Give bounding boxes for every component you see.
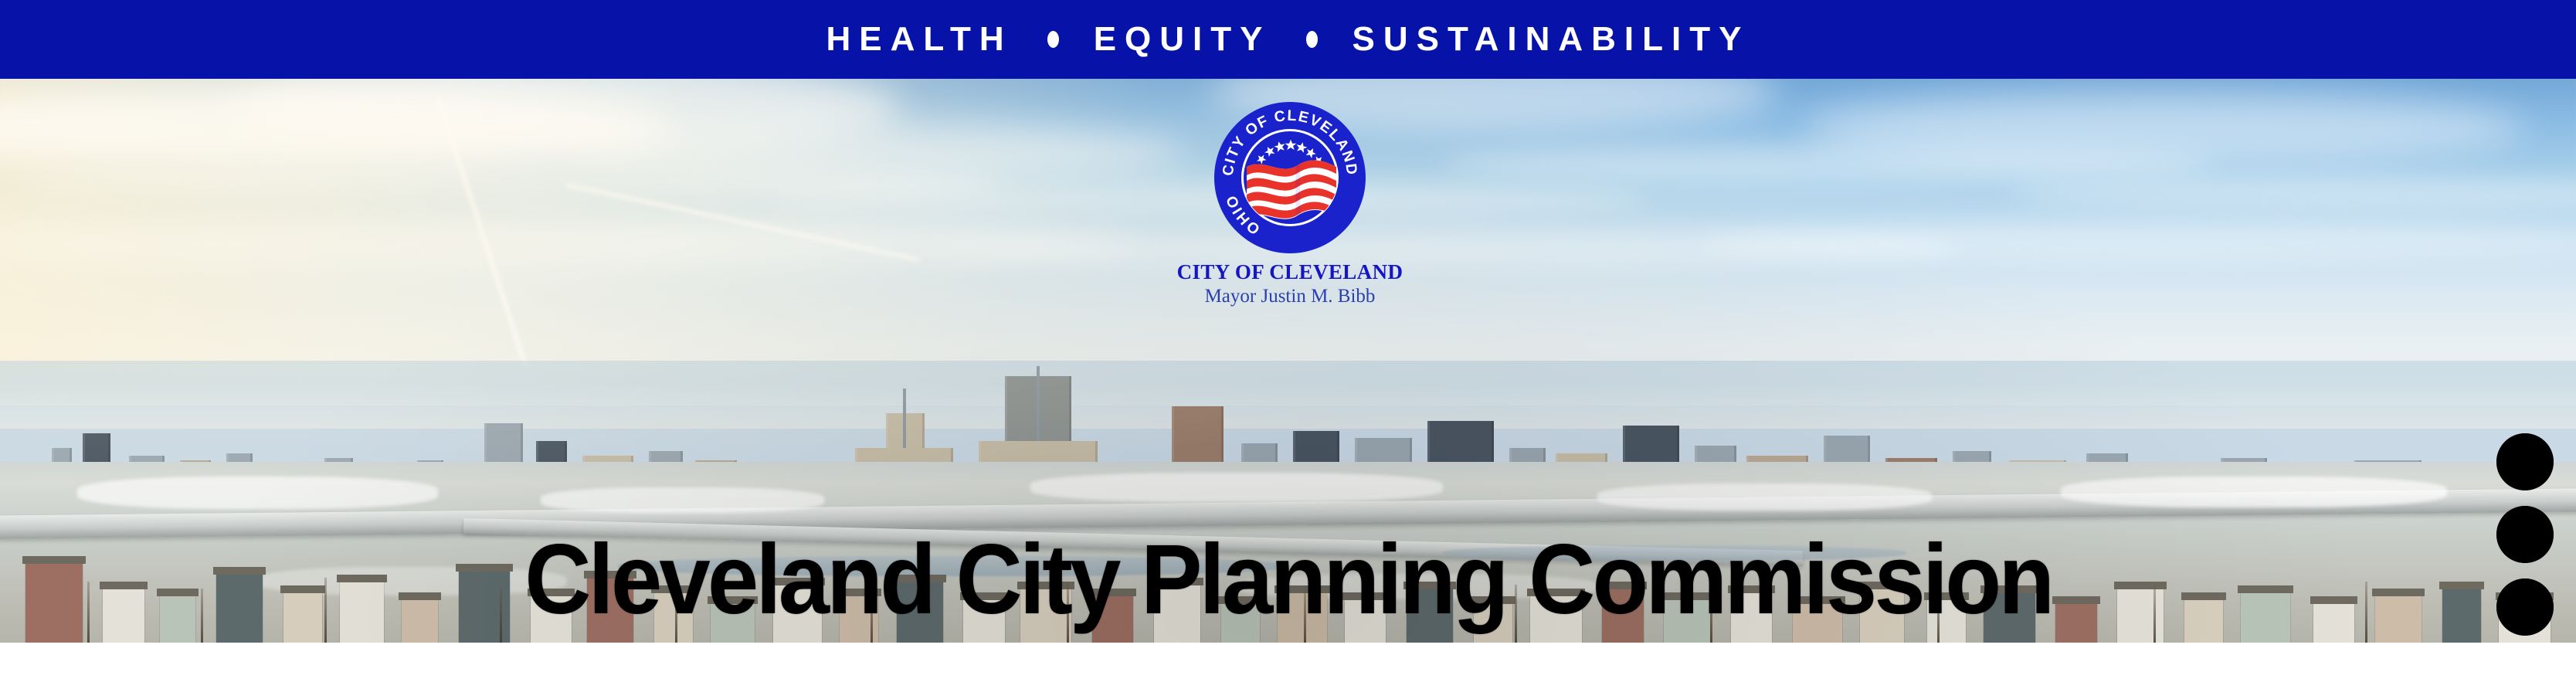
instagram-icon[interactable] bbox=[2496, 506, 2554, 563]
foreground-neighborhood bbox=[0, 462, 2576, 643]
slogan-word-sustainability: SUSTAINABILITY bbox=[1352, 22, 1750, 56]
slogan-banner: HEALTH EQUITY SUSTAINABILITY bbox=[0, 0, 2576, 79]
city-of-cleveland-seal-icon: CITY OF CLEVELAND OHIO bbox=[1213, 100, 1367, 255]
mayor-name: Mayor Justin M. Bibb bbox=[1141, 286, 1439, 307]
slogan-word-health: HEALTH bbox=[826, 22, 1013, 56]
social-media-rail bbox=[2496, 433, 2554, 636]
facebook-icon[interactable] bbox=[2496, 579, 2554, 636]
page-root: HEALTH EQUITY SUSTAINABILITY bbox=[0, 0, 2576, 682]
seal-flag bbox=[1247, 160, 1336, 219]
cuyahoga-river-bend bbox=[1443, 545, 1906, 561]
cuyahoga-river bbox=[618, 556, 1288, 576]
bullet-dot-icon-1 bbox=[1047, 31, 1059, 48]
city-logo-block[interactable]: CITY OF CLEVELAND OHIO bbox=[1141, 100, 1439, 307]
youtube-icon[interactable] bbox=[2496, 433, 2554, 490]
bullet-dot-icon-2 bbox=[1306, 31, 1318, 48]
org-name: CITY OF CLEVELAND bbox=[1141, 261, 1439, 283]
slogan-word-equity: EQUITY bbox=[1094, 22, 1271, 56]
